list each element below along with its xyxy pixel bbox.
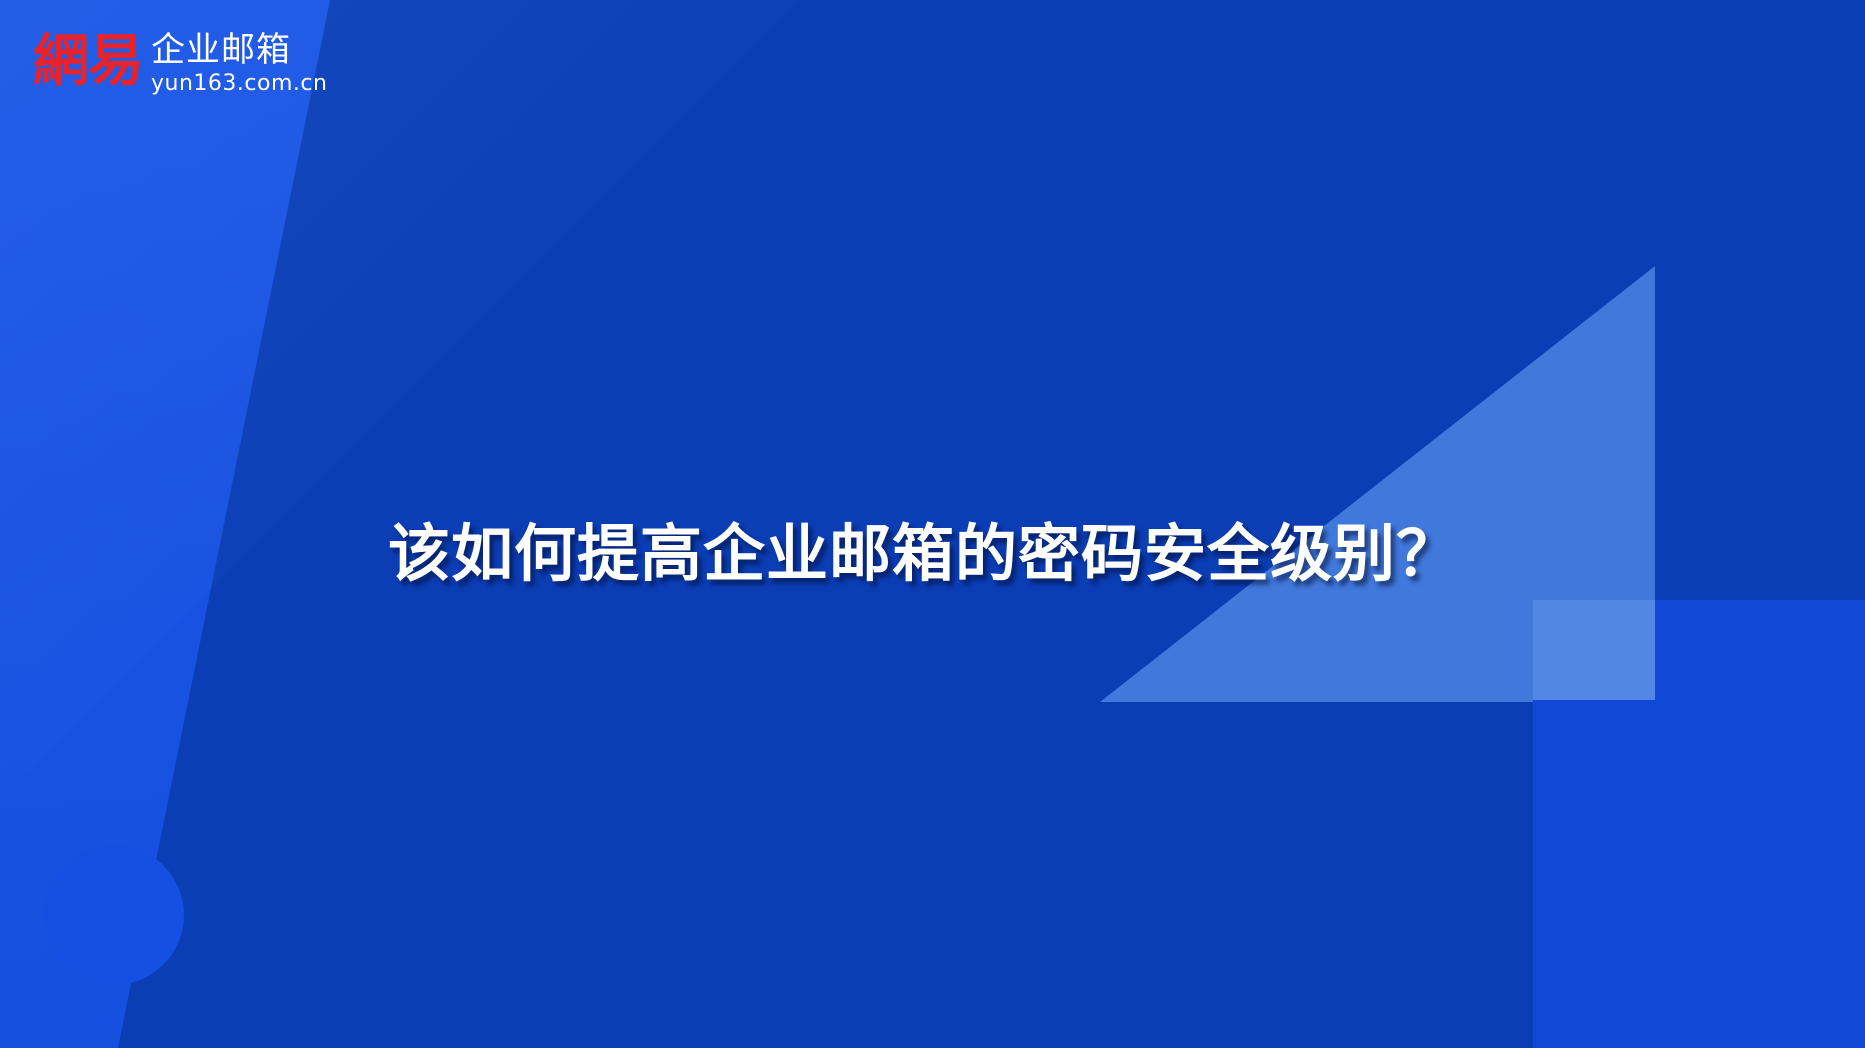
rectangle-triangle-overlap-shape	[1533, 600, 1655, 700]
bottom-left-circle-shape	[44, 845, 184, 985]
page-title: 该如何提高企业邮箱的密码安全级别？	[388, 520, 1459, 588]
netease-wordmark-icon: 網易	[33, 26, 143, 90]
brand-logo[interactable]: 網易 企业邮箱 yun163.com.cn	[33, 26, 327, 96]
logo-text-block: 企业邮箱 yun163.com.cn	[151, 26, 327, 96]
logo-product-name: 企业邮箱	[151, 32, 327, 69]
slide-canvas: 網易 企业邮箱 yun163.com.cn 该如何提高企业邮箱的密码安全级别？	[0, 0, 1865, 1048]
logo-url: yun163.com.cn	[151, 71, 327, 96]
